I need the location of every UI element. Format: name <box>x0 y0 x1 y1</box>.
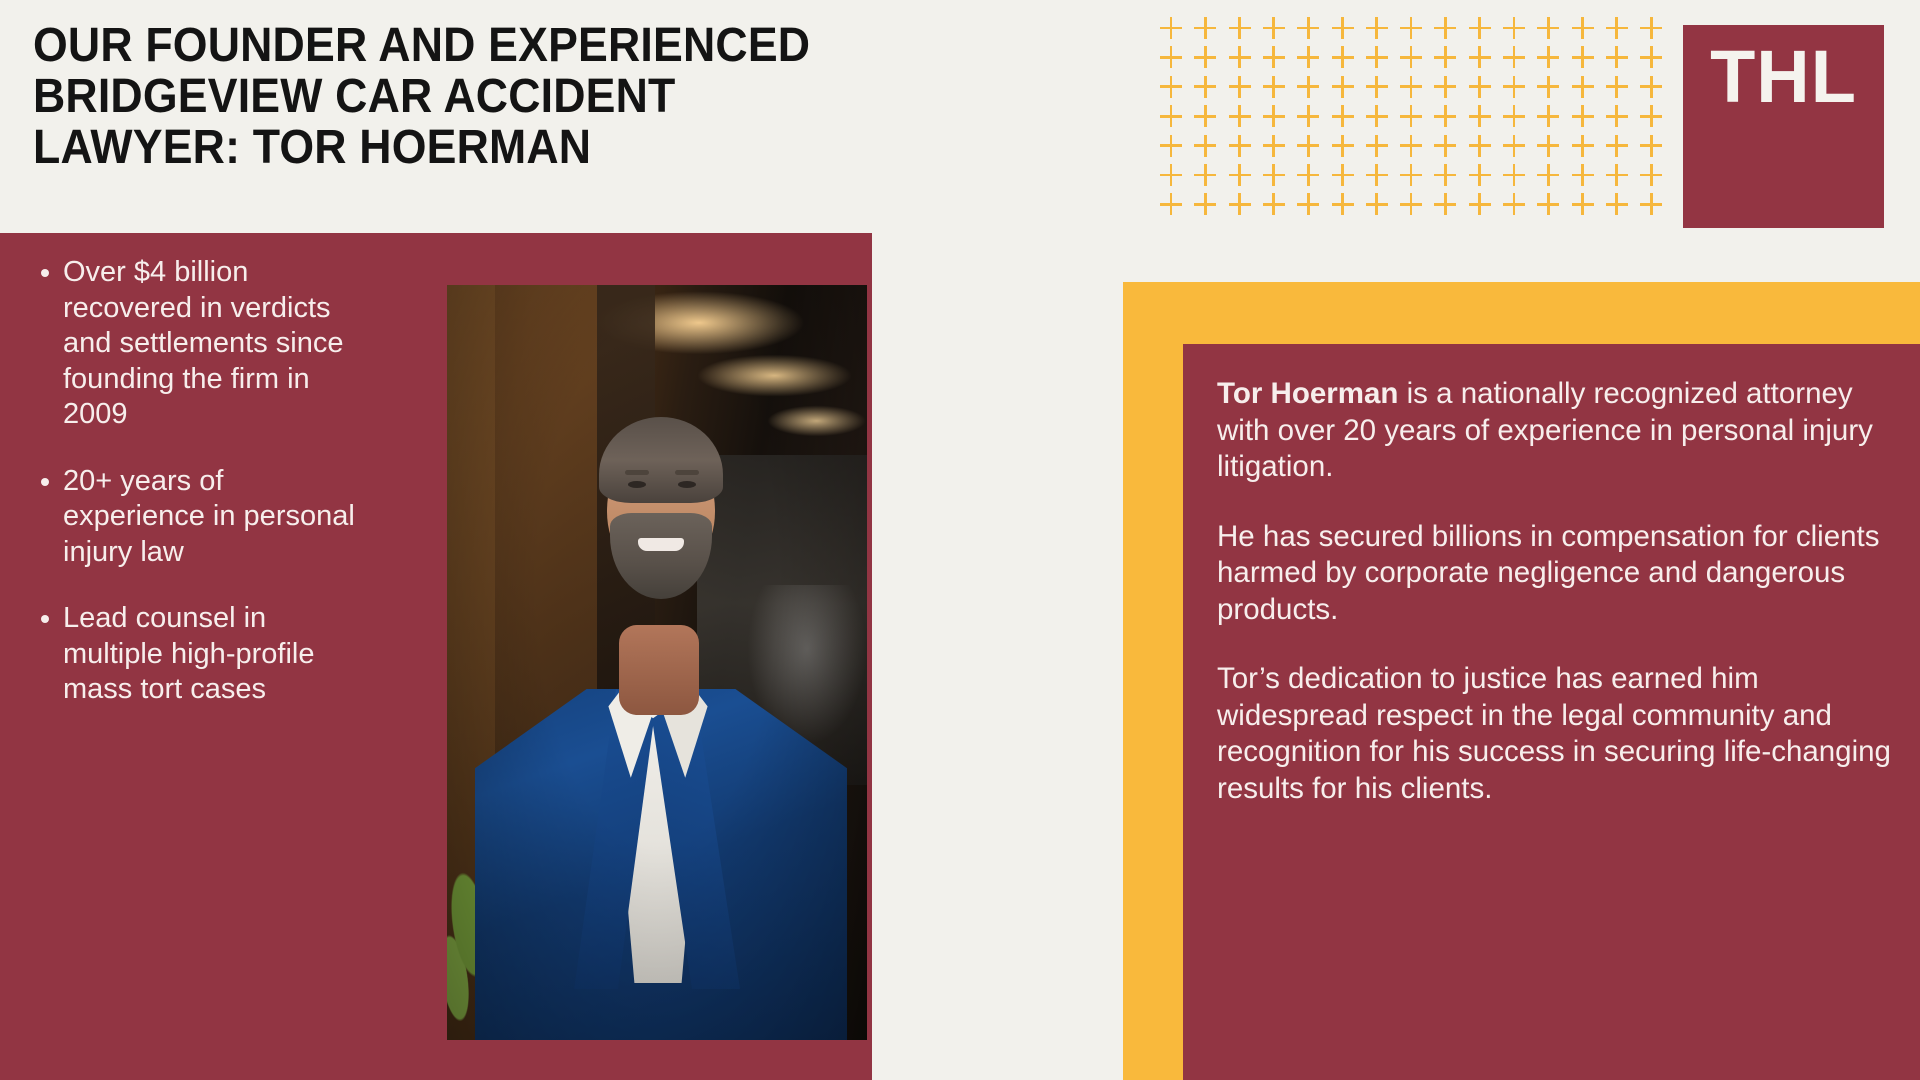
plus-icon <box>1297 105 1319 127</box>
plus-icon <box>1572 135 1594 157</box>
plus-icon <box>1366 105 1388 127</box>
plus-icon <box>1229 193 1251 215</box>
plus-icon <box>1537 193 1559 215</box>
plus-icon <box>1572 105 1594 127</box>
plus-icon <box>1503 76 1525 98</box>
plus-icon <box>1640 164 1662 186</box>
plus-icon <box>1332 76 1354 98</box>
plus-icon <box>1537 46 1559 68</box>
plus-icon <box>1229 46 1251 68</box>
plus-icon <box>1469 193 1491 215</box>
plus-icon <box>1160 46 1182 68</box>
list-item: Lead counsel in multiple high-profile ma… <box>33 601 363 708</box>
portrait-vignette <box>447 285 867 1040</box>
plus-icon <box>1400 105 1422 127</box>
plus-pattern-decoration <box>1160 17 1650 199</box>
plus-icon <box>1263 17 1285 39</box>
bio-paragraph-text: He has secured billions in compensation … <box>1217 520 1879 626</box>
plus-icon <box>1194 105 1216 127</box>
plus-icon <box>1366 164 1388 186</box>
plus-icon <box>1194 76 1216 98</box>
plus-icon <box>1640 105 1662 127</box>
plus-icon <box>1640 17 1662 39</box>
plus-icon <box>1503 135 1525 157</box>
plus-icon <box>1366 17 1388 39</box>
plus-icon <box>1434 105 1456 127</box>
plus-icon <box>1194 135 1216 157</box>
bio-paragraph: Tor Hoerman is a nationally recognized a… <box>1217 376 1897 486</box>
plus-icon <box>1332 105 1354 127</box>
plus-icon <box>1194 193 1216 215</box>
plus-icon <box>1297 135 1319 157</box>
plus-icon <box>1434 46 1456 68</box>
plus-icon <box>1366 46 1388 68</box>
plus-icon <box>1572 46 1594 68</box>
plus-icon <box>1469 135 1491 157</box>
plus-icon <box>1160 105 1182 127</box>
plus-icon <box>1640 193 1662 215</box>
plus-icon <box>1263 46 1285 68</box>
plus-icon <box>1606 17 1628 39</box>
bio-paragraph: Tor’s dedication to justice has earned h… <box>1217 661 1897 807</box>
right-bio-panel: Tor Hoerman is a nationally recognized a… <box>1183 344 1920 1080</box>
thl-logo-text: THL <box>1683 39 1884 115</box>
plus-icon <box>1606 164 1628 186</box>
plus-icon <box>1434 135 1456 157</box>
plus-icon <box>1297 46 1319 68</box>
plus-icon <box>1229 17 1251 39</box>
plus-icon <box>1263 135 1285 157</box>
plus-icon <box>1160 164 1182 186</box>
thl-logo[interactable]: THL <box>1683 25 1884 228</box>
plus-icon <box>1229 164 1251 186</box>
plus-icon <box>1297 17 1319 39</box>
plus-icon <box>1332 17 1354 39</box>
plus-icon <box>1434 193 1456 215</box>
plus-icon <box>1640 46 1662 68</box>
plus-icon <box>1400 46 1422 68</box>
plus-icon <box>1400 76 1422 98</box>
plus-icon <box>1434 76 1456 98</box>
plus-icon <box>1640 135 1662 157</box>
plus-icon <box>1332 46 1354 68</box>
plus-icon <box>1434 164 1456 186</box>
plus-icon <box>1194 17 1216 39</box>
plus-icon <box>1160 135 1182 157</box>
plus-icon <box>1400 164 1422 186</box>
plus-icon <box>1332 193 1354 215</box>
plus-icon <box>1503 105 1525 127</box>
plus-icon <box>1400 135 1422 157</box>
plus-icon <box>1537 135 1559 157</box>
plus-icon <box>1537 17 1559 39</box>
plus-icon <box>1469 46 1491 68</box>
plus-icon <box>1366 193 1388 215</box>
plus-icon <box>1503 46 1525 68</box>
plus-icon <box>1469 76 1491 98</box>
list-item: Over $4 billion recovered in verdicts an… <box>33 255 363 433</box>
bio-paragraph: He has secured billions in compensation … <box>1217 519 1897 629</box>
plus-icon <box>1572 193 1594 215</box>
page-title: OUR FOUNDER AND EXPERIENCED BRIDGEVIEW C… <box>33 20 1047 173</box>
plus-icon <box>1606 76 1628 98</box>
plus-icon <box>1572 17 1594 39</box>
plus-icon <box>1640 76 1662 98</box>
plus-icon <box>1572 76 1594 98</box>
left-credentials-panel: Over $4 billion recovered in verdicts an… <box>0 233 872 1080</box>
plus-icon <box>1263 164 1285 186</box>
plus-icon <box>1400 17 1422 39</box>
plus-icon <box>1366 135 1388 157</box>
plus-icon <box>1606 193 1628 215</box>
plus-icon <box>1503 164 1525 186</box>
plus-icon <box>1263 76 1285 98</box>
plus-icon <box>1160 17 1182 39</box>
plus-icon <box>1469 164 1491 186</box>
plus-icon <box>1263 193 1285 215</box>
list-item: 20+ years of experience in personal inju… <box>33 464 363 571</box>
plus-icon <box>1572 164 1594 186</box>
plus-icon <box>1297 193 1319 215</box>
bio-copy: Tor Hoerman is a nationally recognized a… <box>1217 376 1897 807</box>
founder-portrait-photo <box>447 285 867 1040</box>
plus-icon <box>1537 164 1559 186</box>
plus-icon <box>1366 76 1388 98</box>
plus-icon <box>1332 135 1354 157</box>
plus-icon <box>1297 76 1319 98</box>
plus-icon <box>1434 17 1456 39</box>
plus-icon <box>1160 193 1182 215</box>
plus-icon <box>1263 105 1285 127</box>
plus-icon <box>1194 46 1216 68</box>
plus-icon <box>1537 76 1559 98</box>
plus-icon <box>1469 17 1491 39</box>
plus-icon <box>1194 164 1216 186</box>
plus-icon <box>1229 105 1251 127</box>
plus-icon <box>1606 105 1628 127</box>
plus-icon <box>1606 135 1628 157</box>
page-canvas: OUR FOUNDER AND EXPERIENCED BRIDGEVIEW C… <box>0 0 1920 1080</box>
plus-icon <box>1297 164 1319 186</box>
plus-icon <box>1332 164 1354 186</box>
plus-icon <box>1503 17 1525 39</box>
plus-icon <box>1503 193 1525 215</box>
plus-icon <box>1229 135 1251 157</box>
bio-paragraph-text: Tor’s dedication to justice has earned h… <box>1217 662 1891 805</box>
bio-lead-name: Tor Hoerman <box>1217 377 1398 410</box>
plus-icon <box>1400 193 1422 215</box>
plus-icon <box>1606 46 1628 68</box>
plus-icon <box>1469 105 1491 127</box>
plus-icon <box>1160 76 1182 98</box>
credentials-list: Over $4 billion recovered in verdicts an… <box>33 255 363 739</box>
plus-icon <box>1537 105 1559 127</box>
plus-icon <box>1229 76 1251 98</box>
